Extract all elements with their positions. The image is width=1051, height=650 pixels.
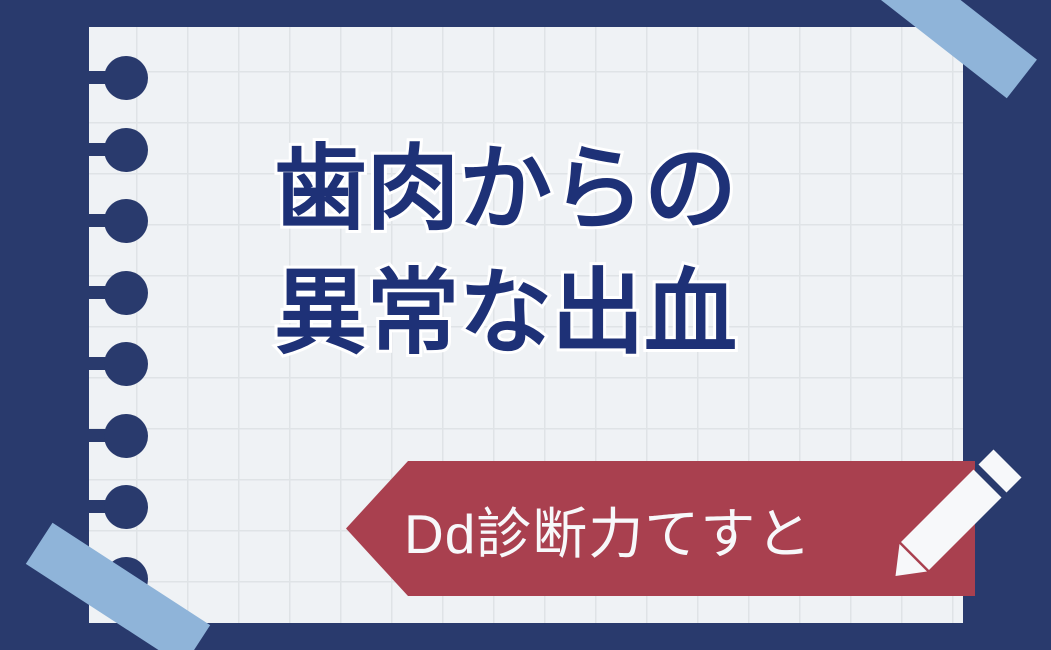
pencil-icon [893, 443, 1028, 578]
hole-4 [104, 271, 148, 315]
hole-5 [104, 342, 148, 386]
hole-6 [104, 414, 148, 458]
hole-2 [104, 128, 148, 172]
hole-7 [104, 485, 148, 529]
hole-3 [104, 199, 148, 243]
diagnosis-test-banner[interactable]: Dd診断力てすと [346, 461, 975, 596]
page-title: 歯肉からの 異常な出血 [274, 128, 914, 375]
banner-label: Dd診断力てすと [404, 489, 812, 569]
slide-canvas: 歯肉からの 異常な出血 Dd診断力てすと [0, 0, 1051, 650]
hole-1 [104, 56, 148, 100]
